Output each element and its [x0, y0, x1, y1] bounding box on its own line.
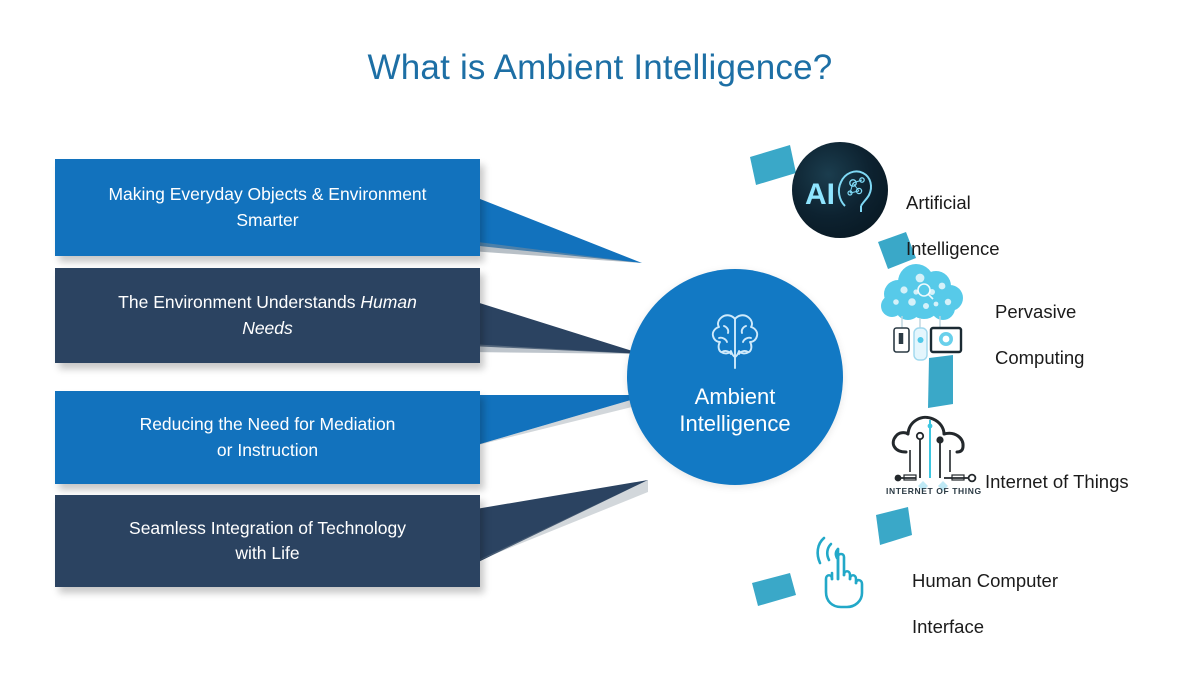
left-box-3-line2: or Instruction	[217, 440, 318, 460]
left-box-2-line1: The Environment Understands	[118, 292, 360, 312]
connector-wedge-4	[470, 470, 685, 590]
left-box-2-line1-italic: Human	[360, 292, 416, 312]
label-pervasive-computing: Pervasive Computing	[995, 277, 1084, 370]
label-ai-line2: Intelligence	[906, 238, 1000, 259]
left-box-2-line2: Needs	[242, 318, 293, 338]
label-hci-line1: Human Computer	[912, 570, 1058, 591]
label-iot-line1: Internet of Things	[985, 471, 1129, 492]
label-human-computer-interface: Human Computer Interface	[912, 546, 1058, 639]
page-title: What is Ambient Intelligence?	[0, 48, 1200, 88]
center-label-line2: Intelligence	[679, 411, 790, 436]
arc-segment-bottom	[748, 567, 808, 615]
center-node-ambient-intelligence[interactable]: Ambient Intelligence	[627, 269, 843, 485]
touch-hand-icon[interactable]	[808, 527, 890, 611]
ai-badge-text: AI	[805, 178, 835, 211]
center-label-line1: Ambient	[695, 384, 776, 409]
left-box-1-line2: Smarter	[236, 210, 298, 230]
left-box-4[interactable]: Seamless Integration of Technology with …	[55, 495, 480, 587]
cloud-devices-icon[interactable]	[868, 252, 978, 362]
left-box-4-line2: with Life	[235, 543, 299, 563]
left-box-3-line1: Reducing the Need for Mediation	[140, 414, 396, 434]
slide-canvas: What is Ambient Intelligence? Making Eve…	[0, 0, 1200, 677]
label-ai-line1: Artificial	[906, 192, 971, 213]
iot-cloud-circuit-icon[interactable]	[882, 406, 992, 498]
left-box-1[interactable]: Making Everyday Objects & Environment Sm…	[55, 159, 480, 256]
label-pc-line2: Computing	[995, 347, 1084, 368]
left-box-3[interactable]: Reducing the Need for Mediation or Instr…	[55, 391, 480, 484]
label-pc-line1: Pervasive	[995, 301, 1076, 322]
label-hci-line2: Interface	[912, 616, 984, 637]
iot-icon-caption: INTERNET OF THING	[886, 486, 982, 496]
left-box-2[interactable]: The Environment Understands Human Needs	[55, 268, 480, 363]
label-internet-of-things: Internet of Things	[985, 447, 1129, 493]
left-box-1-line1: Making Everyday Objects & Environment	[108, 184, 426, 204]
brain-icon	[702, 310, 768, 374]
left-box-4-line1: Seamless Integration of Technology	[129, 518, 406, 538]
label-artificial-intelligence: Artificial Intelligence	[906, 168, 1000, 261]
ai-head-icon[interactable]: AI	[792, 142, 888, 238]
